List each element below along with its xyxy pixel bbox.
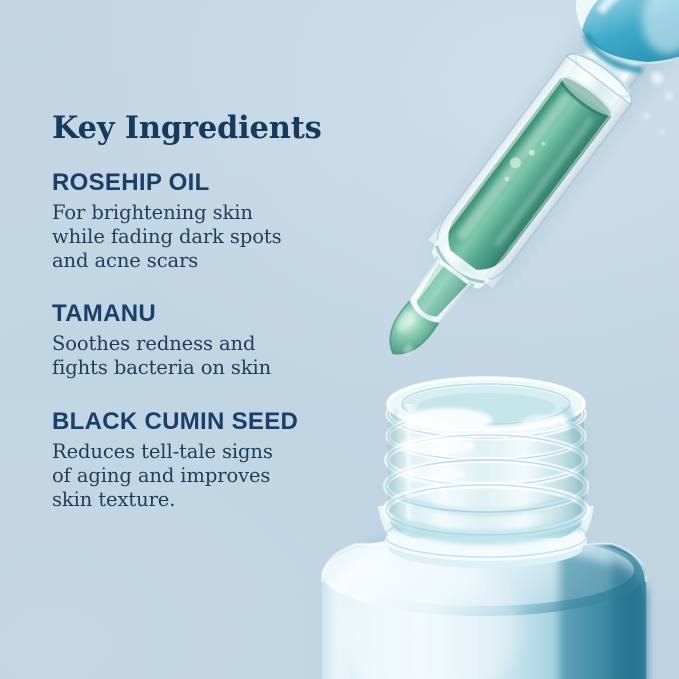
ingredient-description: Reduces tell-tale signs of aging and imp… [52,440,352,513]
ingredient-description-line: skin texture. [52,488,352,512]
ingredient-description-line: Reduces tell-tale signs [52,440,352,464]
ingredient-item-black-cumin-seed: BLACK CUMIN SEED Reduces tell-tale signs… [52,409,352,512]
ingredient-item-tamanu: TAMANU Soothes redness and fights bacter… [52,301,352,380]
ingredient-item-rosehip-oil: ROSEHIP OIL For brightening skin while f… [52,170,352,273]
ingredient-description: Soothes redness and fights bacteria on s… [52,332,352,380]
ingredient-description-line: Soothes redness and [52,332,352,356]
page-title: Key Ingredients [52,112,352,144]
ingredient-name: TAMANU [52,301,352,328]
ingredient-description-line: while fading dark spots [52,225,352,249]
ingredient-description-line: of aging and improves [52,464,352,488]
ingredient-description-line: fights bacteria on skin [52,356,352,380]
ingredient-description-line: and acne scars [52,249,352,273]
ingredient-name: BLACK CUMIN SEED [52,409,352,436]
ingredients-text-column: Key Ingredients ROSEHIP OIL For brighten… [52,112,352,512]
ingredient-description-line: For brightening skin [52,201,352,225]
product-ingredients-graphic: Key Ingredients ROSEHIP OIL For brighten… [0,0,679,679]
ingredient-description: For brightening skin while fading dark s… [52,201,352,274]
ingredient-name: ROSEHIP OIL [52,170,352,197]
